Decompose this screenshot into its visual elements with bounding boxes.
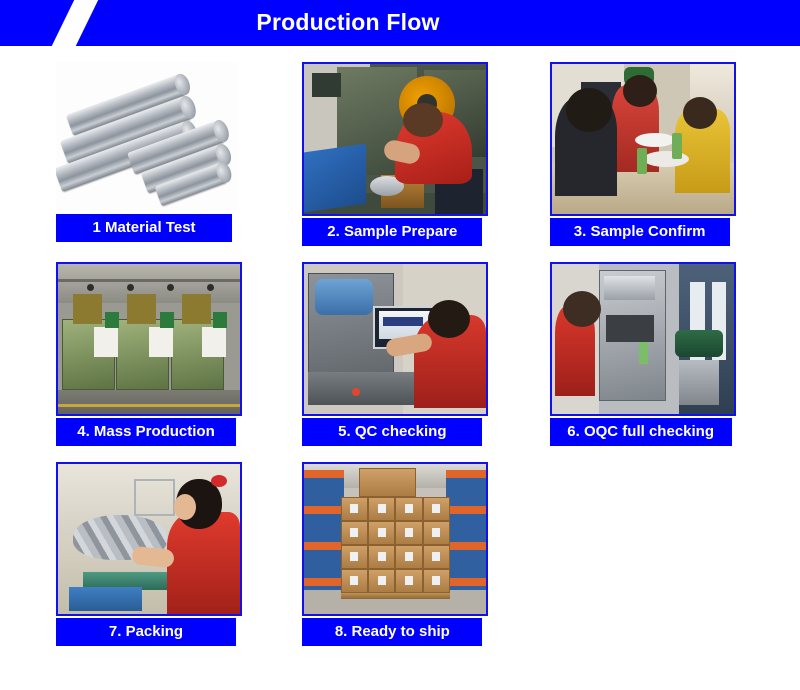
- flow-step-2[interactable]: 2. Sample Prepare: [302, 62, 552, 262]
- step-4-caption: 4. Mass Production: [56, 418, 236, 446]
- ready-to-ship-image: [304, 464, 486, 614]
- sample-confirm-image: [552, 64, 734, 214]
- flow-step-4[interactable]: 4. Mass Production: [56, 262, 306, 462]
- oqc-full-checking-image: [552, 264, 734, 414]
- flow-step-5[interactable]: 5. QC checking: [302, 262, 552, 462]
- flow-step-empty: [550, 462, 800, 662]
- step-2-photo: [302, 62, 488, 216]
- step-4-photo: [56, 262, 242, 416]
- flow-step-7[interactable]: 7. Packing: [56, 462, 306, 662]
- page-header: Production Flow: [0, 0, 800, 46]
- material-bars-image: [56, 62, 238, 212]
- step-3-photo: [550, 62, 736, 216]
- qc-checking-image: [304, 264, 486, 414]
- step-5-caption: 5. QC checking: [302, 418, 482, 446]
- step-1-caption: 1 Material Test: [56, 214, 232, 242]
- flow-step-1[interactable]: 1 Material Test: [56, 62, 306, 262]
- step-7-caption: 7. Packing: [56, 618, 236, 646]
- step-1-photo: [56, 62, 238, 212]
- flow-row-1: 1 Material Test: [0, 62, 800, 262]
- step-3-caption: 3. Sample Confirm: [550, 218, 730, 246]
- step-8-photo: [302, 462, 488, 616]
- flow-step-8[interactable]: 8. Ready to ship: [302, 462, 552, 662]
- step-6-photo: [550, 262, 736, 416]
- flow-row-2: 4. Mass Production 5. QC: [0, 262, 800, 462]
- step-7-photo: [56, 462, 242, 616]
- packing-image: [58, 464, 240, 614]
- page-title: Production Flow: [0, 0, 800, 46]
- flow-row-3: 7. Packing: [0, 462, 800, 662]
- flow-step-6[interactable]: 6. OQC full checking: [550, 262, 800, 462]
- production-flow-grid: 1 Material Test: [0, 46, 800, 662]
- step-2-caption: 2. Sample Prepare: [302, 218, 482, 246]
- flow-step-3[interactable]: 3. Sample Confirm: [550, 62, 800, 262]
- mass-production-image: [58, 264, 240, 414]
- step-8-caption: 8. Ready to ship: [302, 618, 482, 646]
- step-5-photo: [302, 262, 488, 416]
- sample-prepare-image: [304, 64, 486, 214]
- step-6-caption: 6. OQC full checking: [550, 418, 732, 446]
